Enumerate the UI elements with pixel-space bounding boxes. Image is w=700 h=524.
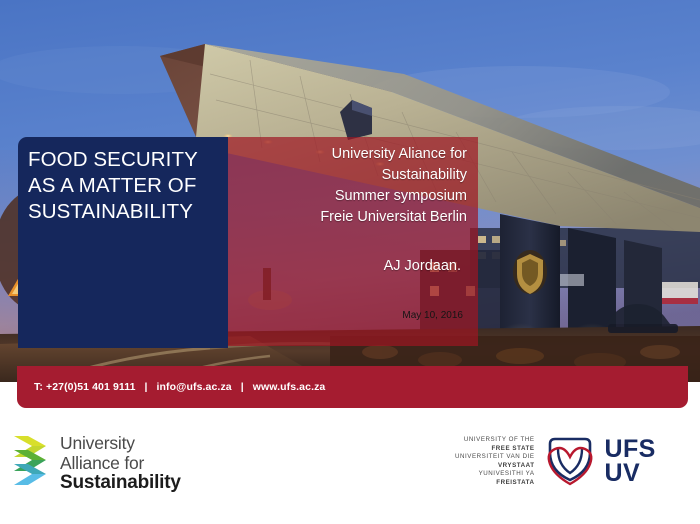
title-block: FOOD SECURITY AS A MATTER OF SUSTAINABIL… xyxy=(18,137,228,348)
presenter-name: AJ Jordaan. xyxy=(250,256,467,277)
contact-separator-1: | xyxy=(136,381,157,393)
event-line-2: Sustainability xyxy=(250,165,467,186)
presentation-slide: FOOD SECURITY AS A MATTER OF SUSTAINABIL… xyxy=(0,0,700,524)
event-line-1: University Aliance for xyxy=(250,144,467,165)
ufs-wordmark-line-5: YUNIVESITHI YA xyxy=(455,470,535,479)
uas-wordmark: University Alliance for Sustainability xyxy=(60,434,181,493)
ufs-abbr-en: UFS xyxy=(605,437,656,461)
university-alliance-logo: University Alliance for Sustainability xyxy=(10,434,181,493)
page-title: FOOD SECURITY AS A MATTER OF SUSTAINABIL… xyxy=(28,147,220,225)
event-line-3: Summer symposium xyxy=(250,186,467,207)
ufs-wordmark-line-1: UNIVERSITY OF THE xyxy=(455,436,535,445)
contact-separator-2: | xyxy=(232,381,253,393)
contact-bar: T: +27(0)51 401 9111 | info@ufs.ac.za | … xyxy=(17,366,688,408)
contact-email[interactable]: info@ufs.ac.za xyxy=(157,381,232,393)
contact-phone: T: +27(0)51 401 9111 xyxy=(17,381,136,393)
ufs-shield-heart-icon xyxy=(541,435,599,487)
ufs-logo: UNIVERSITY OF THE FREE STATE UNIVERSITEI… xyxy=(455,434,656,488)
ufs-abbreviation: UFS UV xyxy=(599,437,656,485)
footer-logo-area: University Alliance for Sustainability U… xyxy=(0,408,700,524)
event-line-4: Freie Universitat Berlin xyxy=(250,207,467,228)
uas-line-1: University xyxy=(60,434,181,454)
ufs-wordmark-text: UNIVERSITY OF THE FREE STATE UNIVERSITEI… xyxy=(455,434,541,488)
uas-chevron-icon xyxy=(10,434,52,492)
event-info-block: University Aliance for Sustainability Su… xyxy=(250,144,467,323)
ufs-wordmark-line-2: FREE STATE xyxy=(455,445,535,454)
ufs-wordmark-line-6: FREISTATA xyxy=(455,479,535,488)
contact-website[interactable]: www.ufs.ac.za xyxy=(253,381,326,393)
uas-line-2: Alliance for xyxy=(60,454,181,474)
ufs-wordmark-line-4: VRYSTAAT xyxy=(455,462,535,471)
ufs-wordmark-line-3: UNIVERSITEIT VAN DIE xyxy=(455,453,535,462)
talk-date: May 10, 2016 xyxy=(250,309,467,323)
uas-line-3: Sustainability xyxy=(60,473,181,493)
ufs-abbr-af: UV xyxy=(605,461,656,485)
